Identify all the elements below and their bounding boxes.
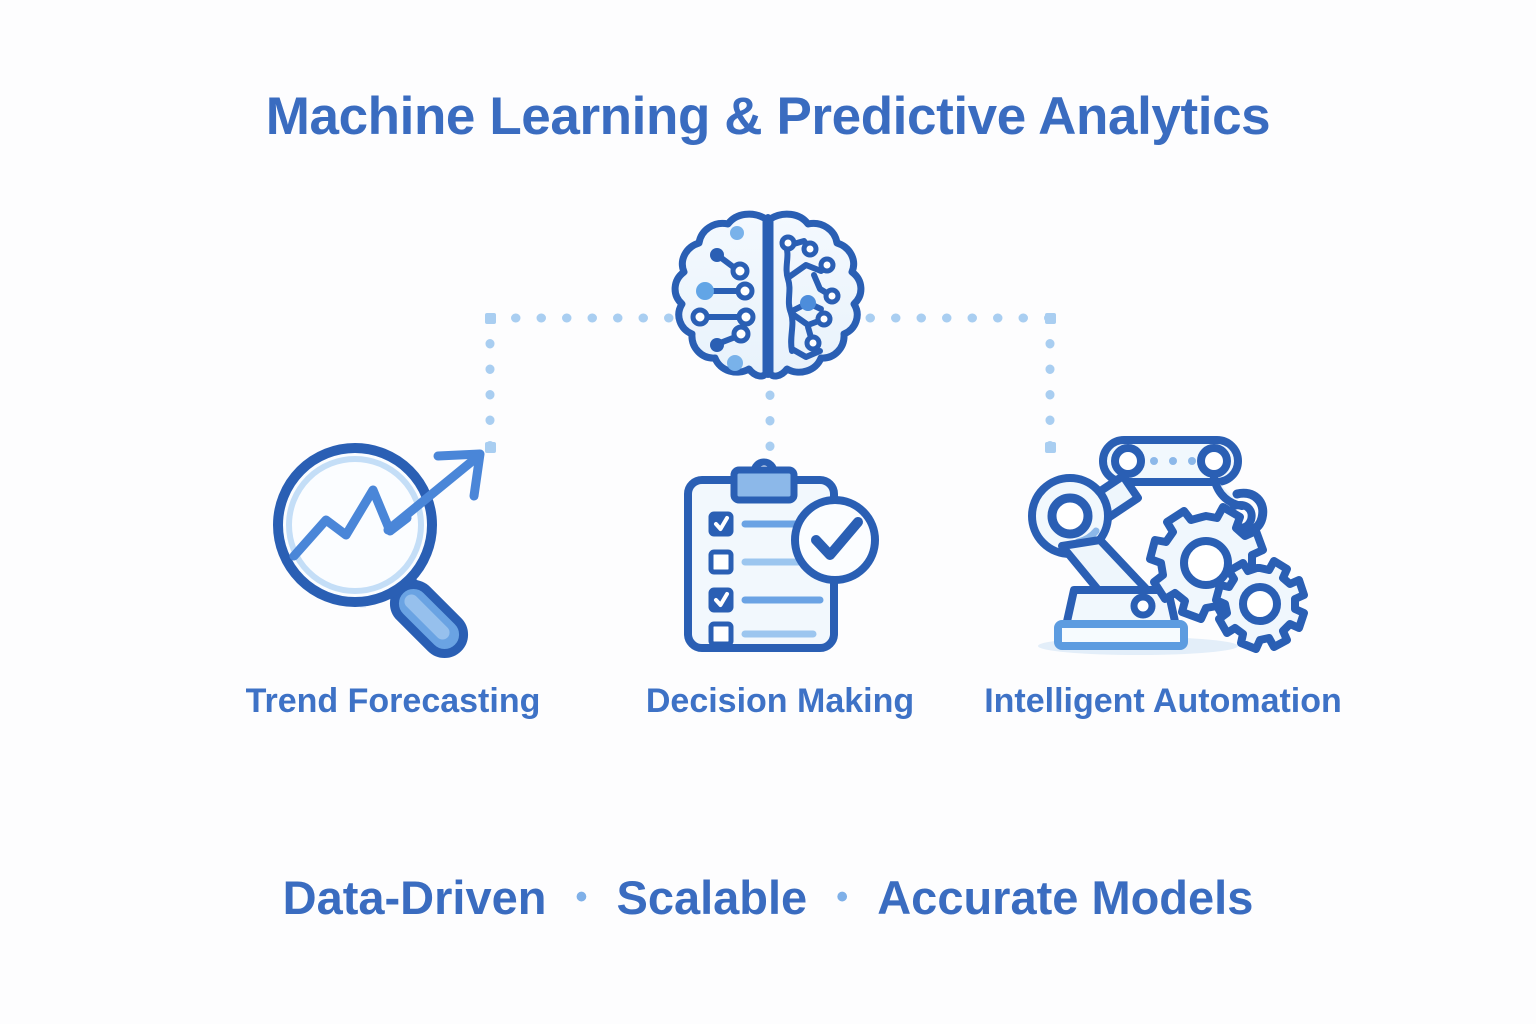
- page-title: Machine Learning & Predictive Analytics: [0, 86, 1536, 147]
- checkbox-unchecked: [711, 552, 731, 572]
- robot-base-plinth: [1058, 624, 1184, 646]
- infographic-canvas: Machine Learning & Predictive Analytics: [0, 0, 1536, 1024]
- pillar-label-decision-making: Decision Making: [585, 682, 975, 721]
- pillar-label-intelligent-automation: Intelligent Automation: [968, 682, 1358, 721]
- pillar-label-trend-forecasting: Trend Forecasting: [198, 682, 588, 721]
- clipboard-checklist-icon: [668, 452, 892, 662]
- checkbox-unchecked: [711, 624, 731, 644]
- tagline-separator-1: •: [560, 878, 604, 916]
- clipboard-icon-stage: [668, 452, 892, 662]
- robot-icon-stage: [1018, 428, 1314, 662]
- tagline-item-1: Data-Driven: [283, 871, 547, 924]
- magnifying-glass-trend-chart-icon: [268, 438, 518, 660]
- robot-base-bolt: [1134, 597, 1152, 615]
- gear-small: [1216, 561, 1304, 649]
- brain-icon-stage: [658, 205, 878, 390]
- tagline-separator-2: •: [820, 878, 864, 916]
- tagline-item-2: Scalable: [616, 871, 807, 924]
- brain-circuit-icon: [658, 205, 878, 390]
- clipboard-clip: [734, 470, 794, 500]
- tagline-item-3: Accurate Models: [877, 871, 1253, 924]
- robot-shoulder-hub: [1052, 498, 1088, 534]
- magnifier-icon-stage: [268, 438, 518, 660]
- robot-boom-pivot-right: [1201, 448, 1227, 474]
- robot-arm-gears-icon: [1018, 428, 1314, 662]
- check-circle-icon: [795, 500, 875, 580]
- tagline: Data-Driven • Scalable • Accurate Models: [0, 866, 1536, 925]
- robot-boom-pivot-left: [1115, 448, 1141, 474]
